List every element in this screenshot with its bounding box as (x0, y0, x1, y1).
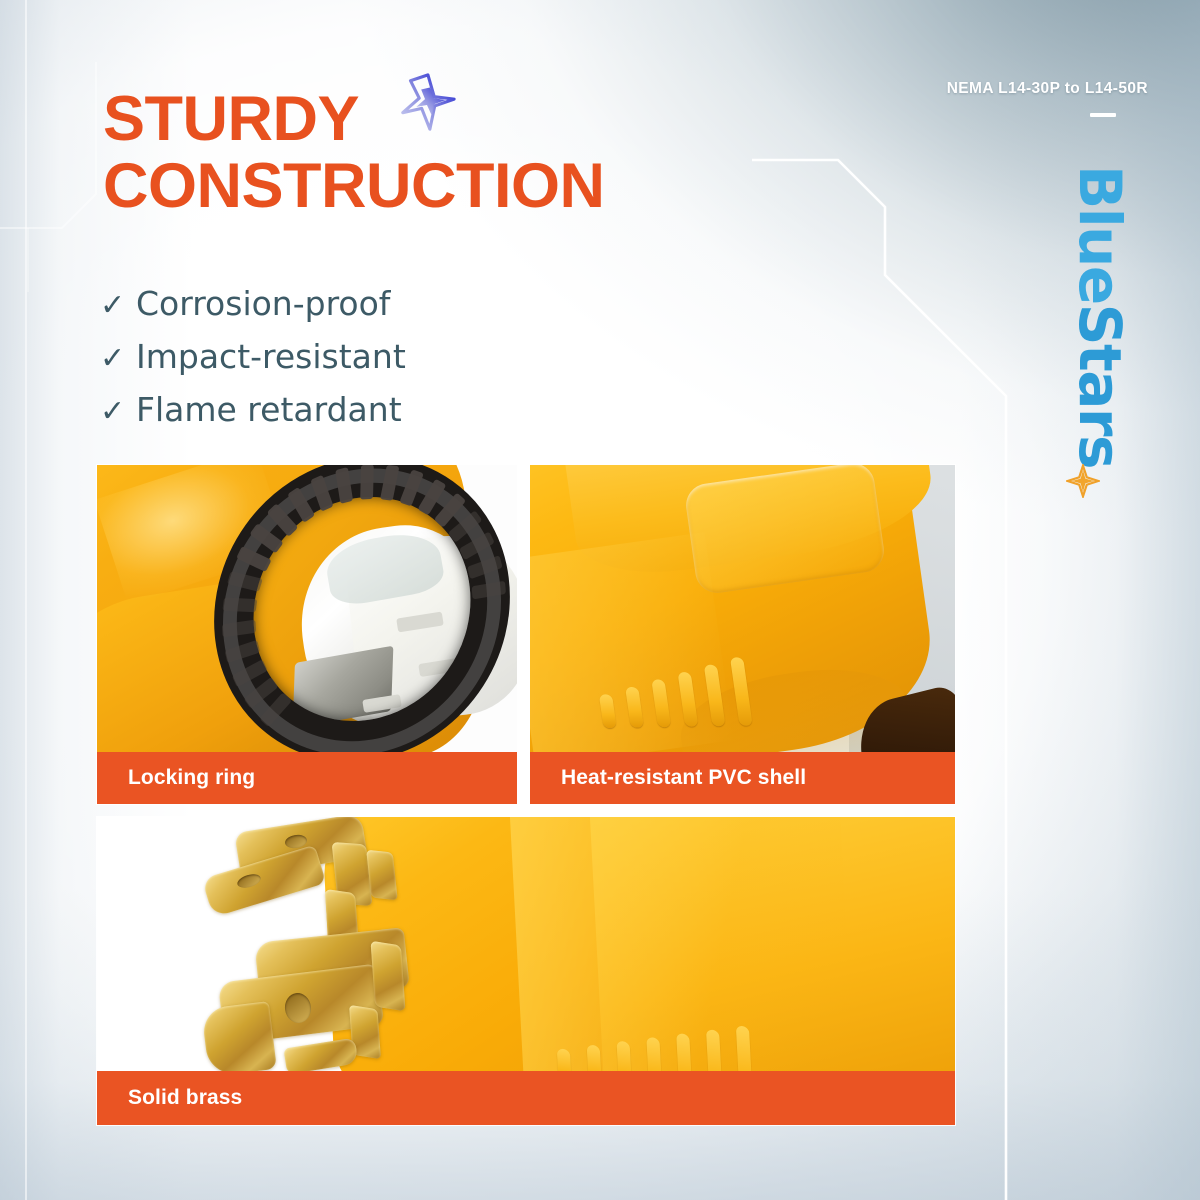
page-title-line2: CONSTRUCTION (103, 153, 803, 220)
photo-panel-locking-ring: Locking ring (97, 465, 517, 804)
photo-panel-pvc-shell: Heat-resistant PVC shell (530, 465, 955, 804)
feature-item-flame-retardant: ✓ Flame retardant (100, 384, 660, 437)
orange-star-icon (1052, 464, 1120, 498)
feature-item-label: Corrosion-proof (136, 278, 390, 329)
check-icon: ✓ (100, 333, 136, 384)
blue-star-icon (395, 72, 457, 134)
photo-caption-locking-ring: Locking ring (97, 752, 517, 804)
feature-item-label: Flame retardant (136, 384, 402, 435)
photo-panel-solid-brass: Solid brass (97, 817, 955, 1125)
feature-item-label: Impact-resistant (136, 331, 406, 382)
photo-caption-pvc-shell: Heat-resistant PVC shell (530, 752, 955, 804)
product-code-underline (1090, 113, 1116, 117)
feature-item-impact-resistant: ✓ Impact-resistant (100, 331, 660, 384)
brand-name-part2: Stars (1066, 304, 1134, 468)
brand-name-part1: Blue (1066, 165, 1134, 304)
product-photo-grid: Locking ring Heat-resistant PVC shell (97, 465, 955, 1125)
check-icon: ✓ (100, 386, 136, 437)
photo-caption-solid-brass: Solid brass (97, 1071, 955, 1125)
check-icon: ✓ (100, 280, 136, 331)
feature-list: ✓ Corrosion-proof ✓ Impact-resistant ✓ F… (100, 278, 660, 437)
brand-logo: BlueStars (1045, 165, 1155, 465)
feature-item-corrosion-proof: ✓ Corrosion-proof (100, 278, 660, 331)
